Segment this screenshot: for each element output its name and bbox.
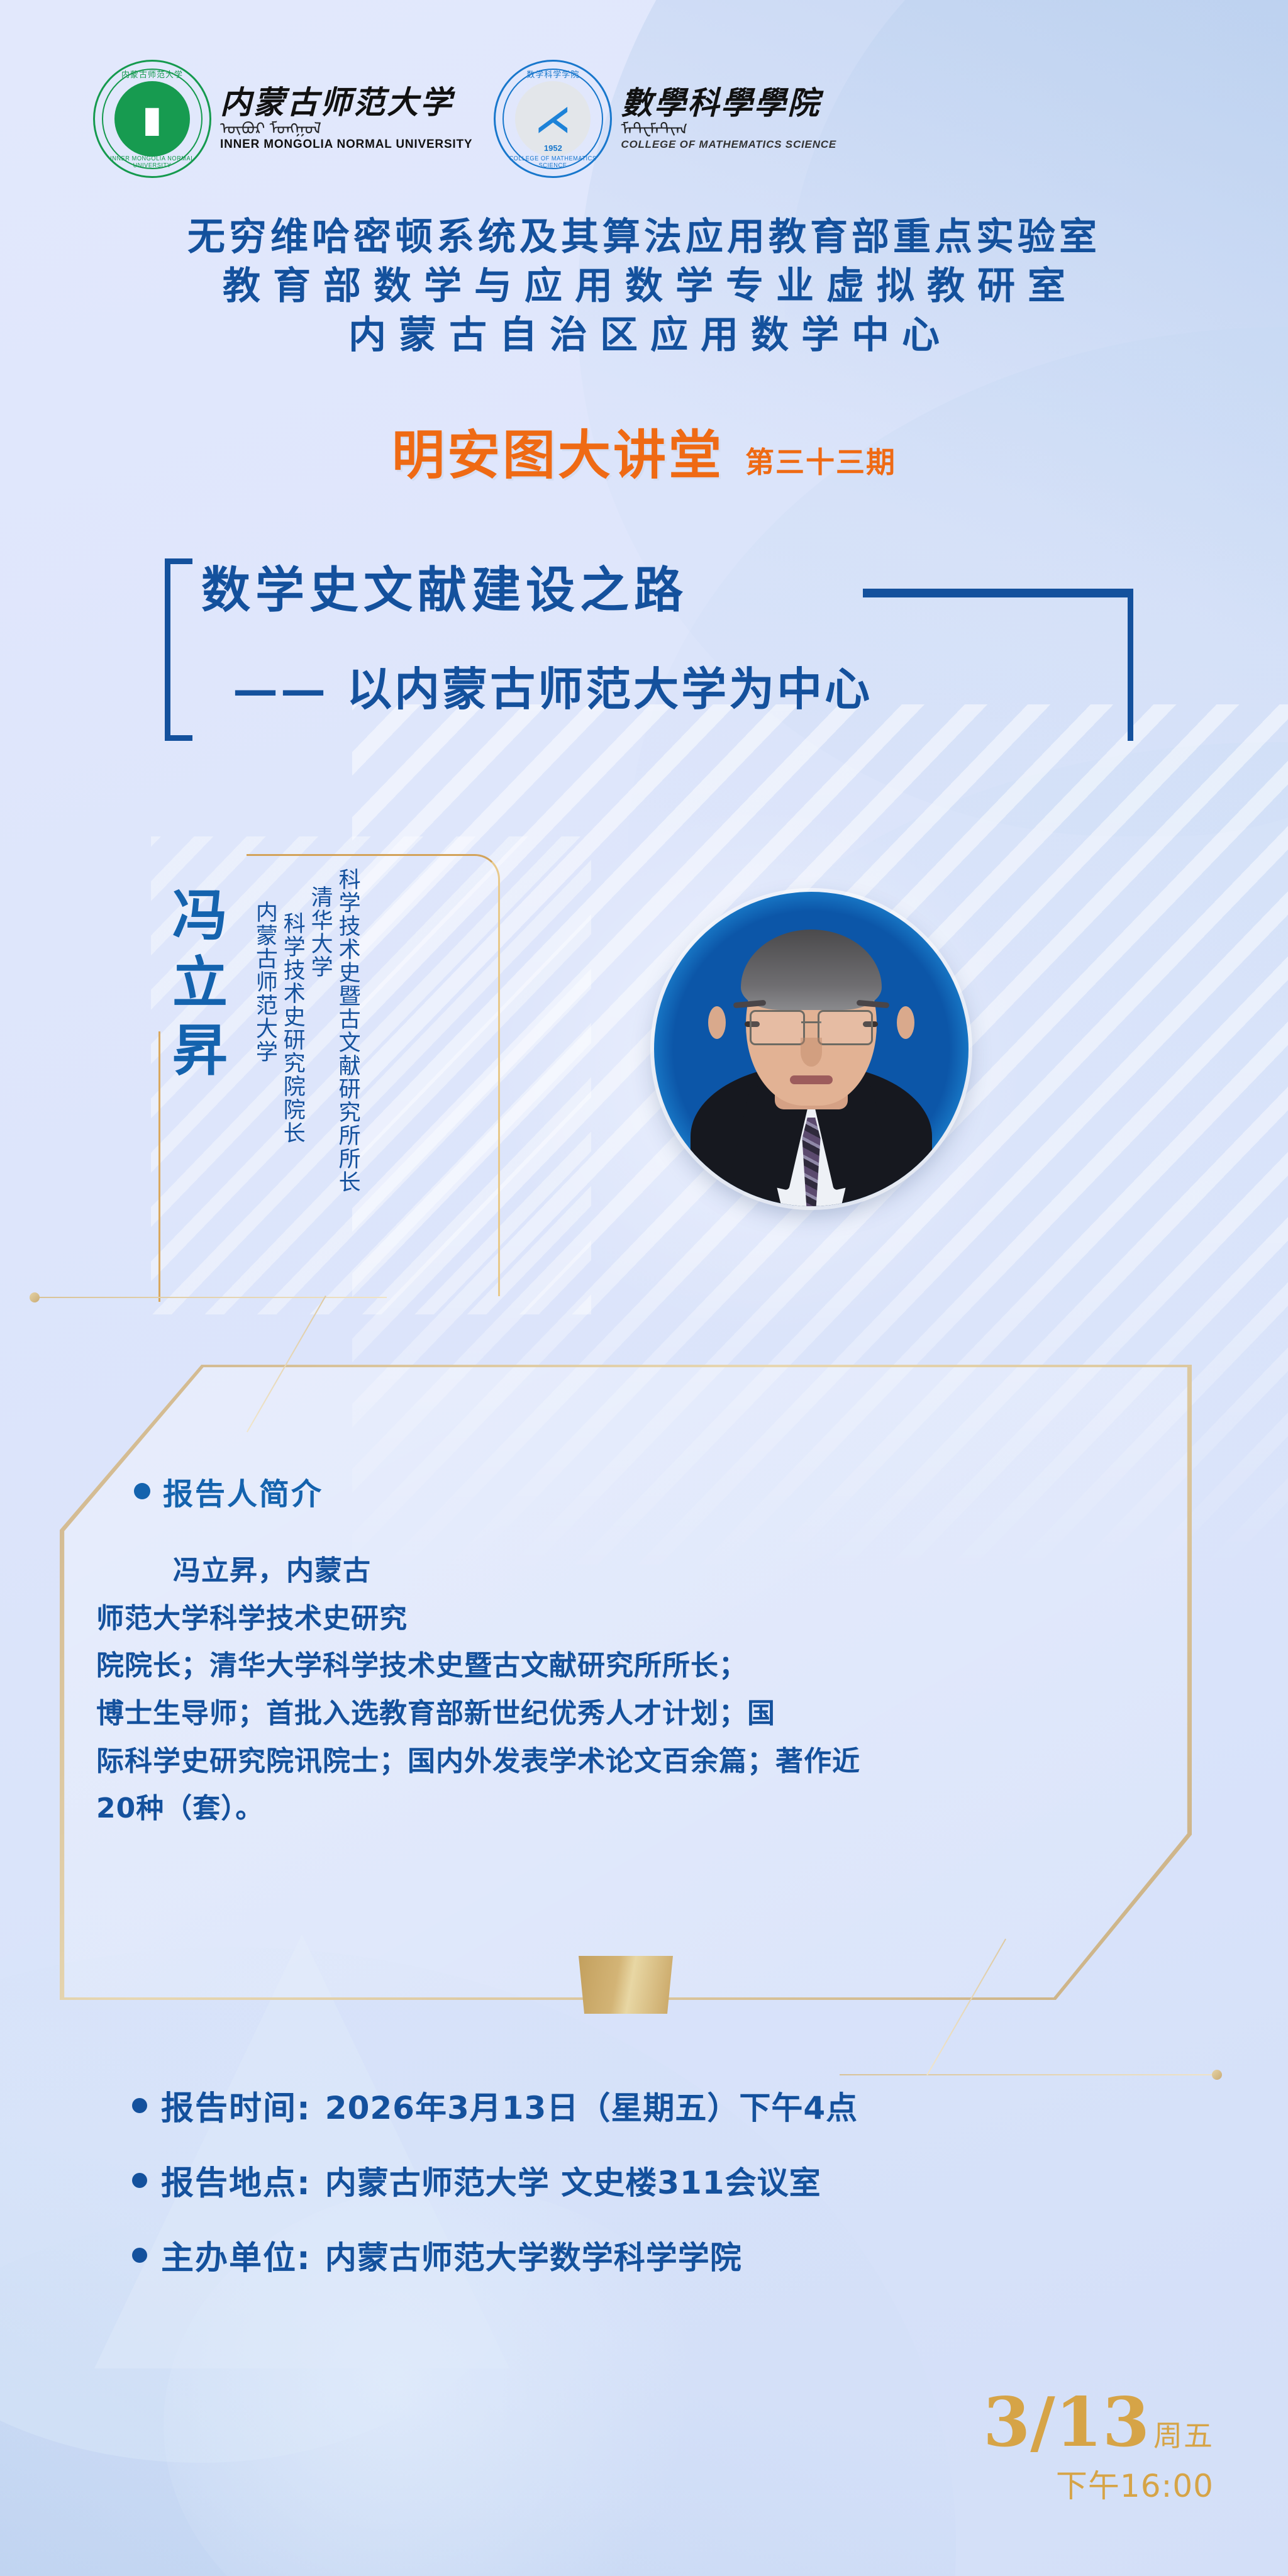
bio-line-3: 院院长；清华大学科学技术史暨古文献研究所所长； [96,1642,1102,1690]
bracket-right-icon [1128,589,1133,741]
seal-arc-cn: 数学科学学院 [494,68,612,80]
speaker-portrait [654,892,969,1206]
detail-value: 内蒙古师范大学数学科学学院 [325,2233,742,2278]
topic-title-line-2: —— 以内蒙古师范大学为中心 [233,664,872,714]
bio-decor-dot-top [30,1292,40,1302]
bio-body-text: 冯立昇，内蒙古 师范大学科学技术史研究 院院长；清华大学科学技术史暨古文献研究所… [96,1547,1102,1833]
lab-title-line-1: 无穷维哈密顿系统及其算法应用教育部重点实验室 [0,213,1288,262]
topic-rule [863,589,1133,597]
speaker-title-column-3: 科学技术史研究院院长 [279,912,304,1264]
seal-arc-en: INNER MONGOLIA NORMAL UNIVERSITY [98,155,207,169]
detail-label: 报告时间: [161,2082,311,2129]
lab-title-line-3: 内蒙古自治区应用数学中心 [0,311,1288,360]
bullet-icon [132,2173,147,2188]
topic-block: 数学史文献建设之路 —— 以内蒙古师范大学为中心 [165,558,1133,741]
logo-name-mongolian: ᠮᠠᠲ᠋ᠧᠮᠠᠲ᠋ᠢᠭ [621,121,836,137]
speaker-titles-vertical: 科学技术史暨古文献研究所所长 清华大学 科学技术史研究院院长 内蒙古师范大学 [252,868,360,1296]
stamp-weekday: 周五 [1153,2421,1214,2450]
portrait-hair [741,930,882,1010]
detail-row-time: 报告时间: 2026年3月13日（星期五）下午4点 [132,2082,1138,2129]
detail-row-venue: 报告地点: 内蒙古师范大学 文史楼311会议室 [132,2157,1138,2204]
date-stamp: 3/13 周五 下午16:00 [983,2389,1214,2502]
bio-decor-dot-bottom [1212,2070,1222,2080]
detail-label: 报告地点: [161,2157,311,2204]
logo-name-mongolian: ᠦᠪᠦᠷ ᠮᠣᠩᠭᠣᠯ [220,120,472,136]
speaker-block: 冯立昇 科学技术史暨古文献研究所所长 清华大学 科学技术史研究院院长 内蒙古师范… [151,843,503,1321]
bio-line-1: 冯立昇，内蒙古 [96,1547,1102,1595]
logo-bar: ▮ 内蒙古师范大学 INNER MONGOLIA NORMAL UNIVERSI… [93,60,836,178]
bracket-left-top-icon [165,558,192,564]
logo-name-en: COLLEGE OF MATHEMATICS SCIENCE [621,138,836,151]
bio-line-4: 博士生导师；首批入选教育部新世纪优秀人才计划；国 [96,1690,1102,1738]
stamp-time: 下午16:00 [983,2470,1214,2502]
portrait-ear-left [708,1006,726,1039]
speaker-title-column-1: 科学技术史暨古文献研究所所长 [335,868,360,1283]
logo-name-en: INNER MONGOLIA NORMAL UNIVERSITY [220,138,472,152]
bio-line-6: 20种（套）。 [96,1785,1102,1833]
bullet-icon [132,2248,147,2263]
portrait-ear-right [897,1006,914,1039]
lecture-series-issue: 第三十三期 [745,448,896,482]
speaker-title-column-4: 内蒙古师范大学 [252,901,277,1108]
detail-value: 2026年3月13日（星期五）下午4点 [325,2083,858,2128]
bio-line-2: 师范大学科学技术史研究 [96,1595,1102,1643]
detail-row-organizer: 主办单位: 内蒙古师范大学数学科学学院 [132,2231,1138,2279]
lab-title-group: 无穷维哈密顿系统及其算法应用教育部重点实验室 教育部数学与应用数学专业虚拟教研室… [0,213,1288,360]
university-seal-icon: ▮ 内蒙古师范大学 INNER MONGOLIA NORMAL UNIVERSI… [93,60,211,178]
detail-label: 主办单位: [161,2231,311,2279]
bio-line-5: 际科学史研究院讯院士；国内外发表学术论文百余篇；著作近 [96,1738,1102,1785]
college-seal-icon: ⋌ 数学科学学院 1952 COLLEGE OF MATHEMATICS SCI… [494,60,612,178]
logo-inner-mongolia-normal-university: ▮ 内蒙古师范大学 INNER MONGOLIA NORMAL UNIVERSI… [93,60,472,178]
logo-college-of-mathematics-science: ⋌ 数学科学学院 1952 COLLEGE OF MATHEMATICS SCI… [494,60,836,178]
seal-arc-cn: 内蒙古师范大学 [93,68,211,80]
lecture-series-group: 明安图大讲堂 第三十三期 [0,429,1288,482]
detail-value: 内蒙古师范大学 文史楼311会议室 [325,2158,821,2203]
portrait-mouth [790,1075,833,1084]
portrait-photo [679,894,943,1206]
bullet-icon [134,1483,150,1499]
poster-root: ▮ 内蒙古师范大学 INNER MONGOLIA NORMAL UNIVERSI… [0,0,1288,2576]
bullet-icon [132,2098,147,2113]
portrait-nose [801,1038,822,1067]
lab-title-line-2: 教育部数学与应用数学专业虚拟教研室 [0,262,1288,311]
seal-year: 1952 [494,143,612,153]
lecture-series-name: 明安图大讲堂 [392,429,724,482]
logo-name-cn: 内蒙古师范大学 [220,86,472,119]
logo-name-cn: 數學科學學院 [621,87,836,120]
bracket-left-bottom-icon [165,735,192,741]
bio-gold-ornament [579,1956,673,2014]
speaker-title-column-2: 清华大学 [307,885,332,1030]
speaker-name: 冯立昇 [162,882,238,1084]
bio-decor-line-top [35,1297,387,1298]
topic-title-line-1: 数学史文献建设之路 [201,563,688,618]
event-details-list: 报告时间: 2026年3月13日（星期五）下午4点 报告地点: 内蒙古师范大学 … [132,2082,1138,2306]
speaker-bio-card: 报告人简介 冯立昇，内蒙古 师范大学科学技术史研究 院院长；清华大学科学技术史暨… [60,1365,1192,2000]
bio-decor-line-bottom [840,2074,1217,2075]
seal-arc-en: COLLEGE OF MATHEMATICS SCIENCE [499,155,608,169]
bio-heading-label: 报告人简介 [163,1469,323,1513]
bio-heading: 报告人简介 [134,1469,323,1513]
stamp-date: 3/13 [983,2389,1150,2457]
bracket-left-icon [165,558,170,741]
